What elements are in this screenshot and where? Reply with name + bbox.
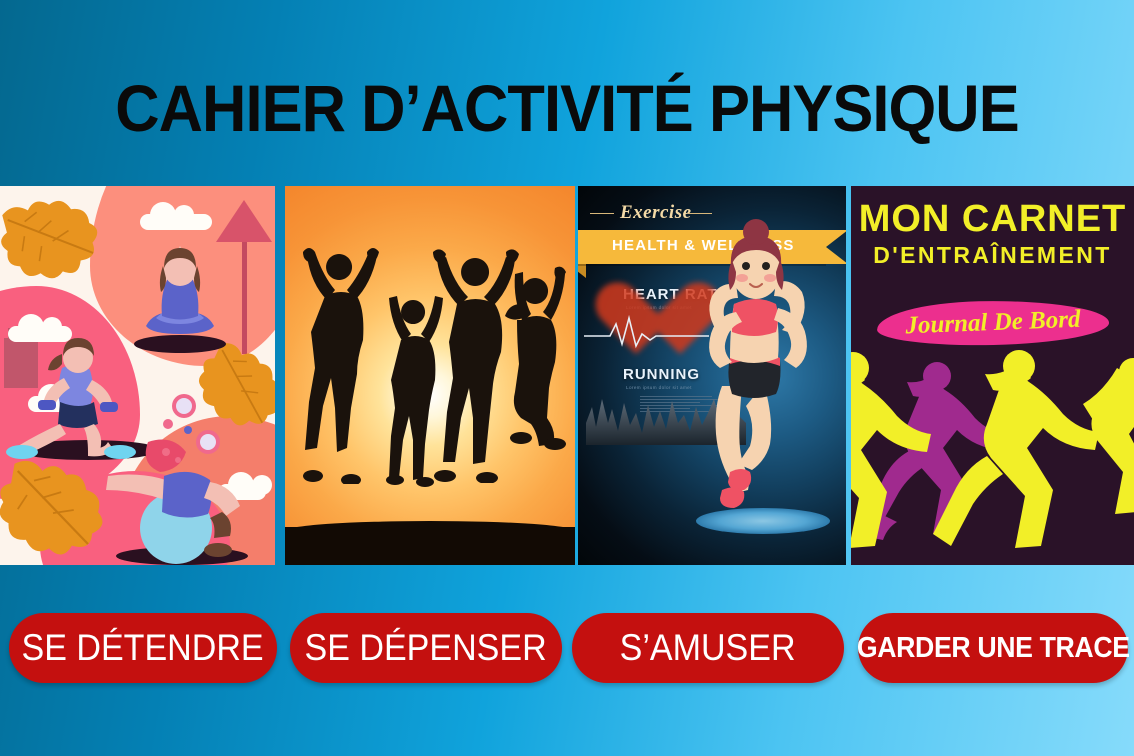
button-label: SE DÉPENSER [305,627,547,669]
brush-badge: Journal De Bord [877,299,1110,348]
button-label: S’AMUSER [620,627,796,669]
button-label: SE DÉTENDRE [22,627,264,669]
ground-silhouette [285,527,575,565]
button-samuser[interactable]: S’AMUSER [572,613,844,683]
lamp-pole [242,242,247,354]
ribbon-tail [578,264,586,278]
exercise-script-title: Exercise [620,202,692,224]
button-se-depenser[interactable]: SE DÉPENSER [290,613,562,683]
panel-strip: Exercise HEALTH & WELLNESS HEART RATE Lo… [0,186,1134,565]
page-title: CAHIER D’ACTIVITÉ PHYSIQUE [40,62,1095,154]
runner-silhouettes [851,346,1134,565]
button-se-detendre[interactable]: SE DÉTENDRE [9,613,277,683]
carnet-title-line1: MON CARNET [851,198,1134,241]
panel-se-depenser[interactable] [285,186,575,565]
journal-de-bord-label: Journal De Bord [877,305,1110,342]
button-label: GARDER UNE TRACE [857,632,1130,665]
decor-bubbles [160,394,220,469]
button-row: SE DÉTENDRE SE DÉPENSER S’AMUSER GARDER … [0,613,1134,683]
cloud-icon [140,214,212,230]
figure-fitness-woman [686,208,826,523]
poster-root: CAHIER D’ACTIVITÉ PHYSIQUE [0,0,1134,756]
panel-garder-une-trace[interactable]: MON CARNET D'ENTRAÎNEMENT Journal De Bor… [851,186,1134,565]
silhouette-jumper [301,244,381,484]
divider [590,213,614,214]
silhouette-jumper [501,266,573,461]
button-garder-une-trace[interactable]: GARDER UNE TRACE [858,613,1128,683]
panel-se-detendre[interactable] [0,186,275,565]
carnet-title-line2: D'ENTRAÎNEMENT [851,242,1134,269]
panel-samuser[interactable]: Exercise HEALTH & WELLNESS HEART RATE Lo… [578,186,846,565]
